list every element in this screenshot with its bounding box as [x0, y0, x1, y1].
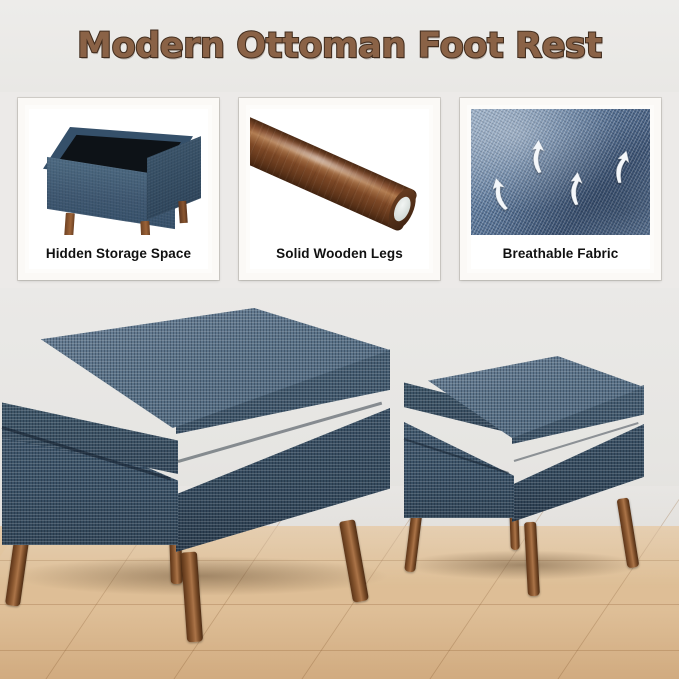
ottoman-small[interactable] [398, 356, 648, 586]
ottoman-large[interactable] [0, 308, 398, 608]
feature-panel-inner: Hidden Storage Space [29, 109, 208, 269]
product-hero-scene [0, 288, 679, 679]
title-banner: Modern Ottoman Foot Rest [0, 0, 679, 92]
airflow-arrow-icon [528, 139, 545, 174]
ottoman-top-surface [2, 308, 390, 428]
ottoman-leg [140, 221, 150, 235]
ottoman-leg [64, 213, 75, 235]
storage-box-open-icon [29, 109, 208, 235]
fabric-weave [2, 308, 390, 428]
feature-panel-breathable-fabric: Breathable Fabric [460, 98, 661, 280]
ottoman-leg [617, 497, 640, 568]
feature-panel-inner: Solid Wooden Legs [250, 109, 429, 269]
wood-leg-icon [250, 109, 429, 235]
page-title: Modern Ottoman Foot Rest [0, 26, 679, 66]
feature-panel-hidden-storage: Hidden Storage Space [18, 98, 219, 280]
feature-label-wooden-legs: Solid Wooden Legs [250, 240, 429, 269]
breathable-fabric-image [471, 109, 650, 235]
ottoman-leg [339, 519, 369, 603]
ottoman-leg [524, 522, 540, 597]
ottoman-leg [178, 201, 188, 224]
airflow-arrows-icon [471, 109, 650, 235]
feature-label-breathable-fabric: Breathable Fabric [471, 240, 650, 269]
product-infographic: Modern Ottoman Foot Rest Hidden Storage … [0, 0, 679, 679]
hidden-storage-image [29, 109, 208, 235]
wood-leg-cylinder [250, 115, 419, 232]
feature-panel-wooden-legs: Solid Wooden Legs [239, 98, 440, 280]
feature-label-hidden-storage: Hidden Storage Space [29, 240, 208, 269]
wooden-legs-image [250, 109, 429, 235]
feature-panel-inner: Breathable Fabric [471, 109, 650, 269]
